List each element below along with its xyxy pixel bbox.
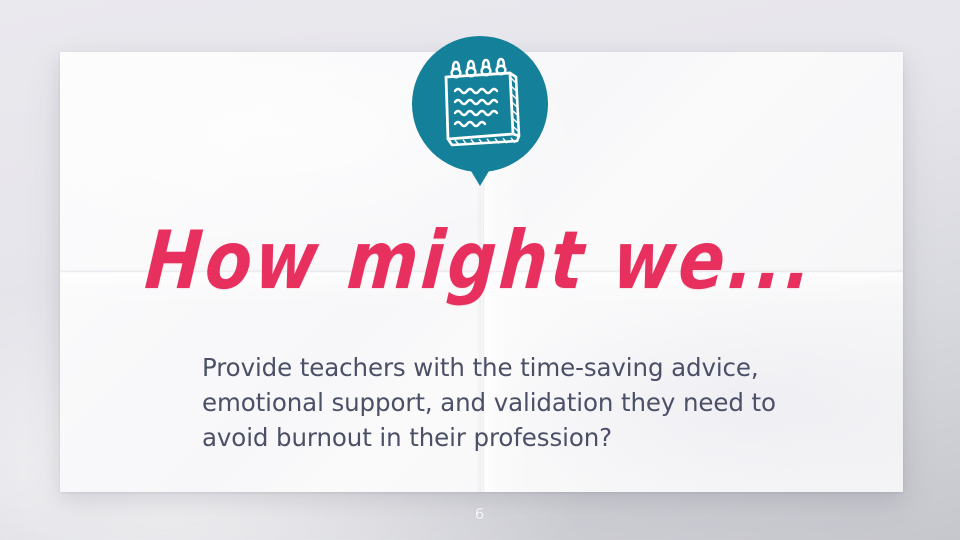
slide-title: How might we... <box>0 222 960 302</box>
slide-canvas: How might we... Provide teachers with th… <box>0 0 960 540</box>
badge-container <box>0 36 960 172</box>
slide-body-text: Provide teachers with the time-saving ad… <box>202 350 802 455</box>
notepad-icon <box>412 36 548 172</box>
speech-bubble-badge <box>412 36 548 172</box>
page-number: 6 <box>0 505 960 523</box>
